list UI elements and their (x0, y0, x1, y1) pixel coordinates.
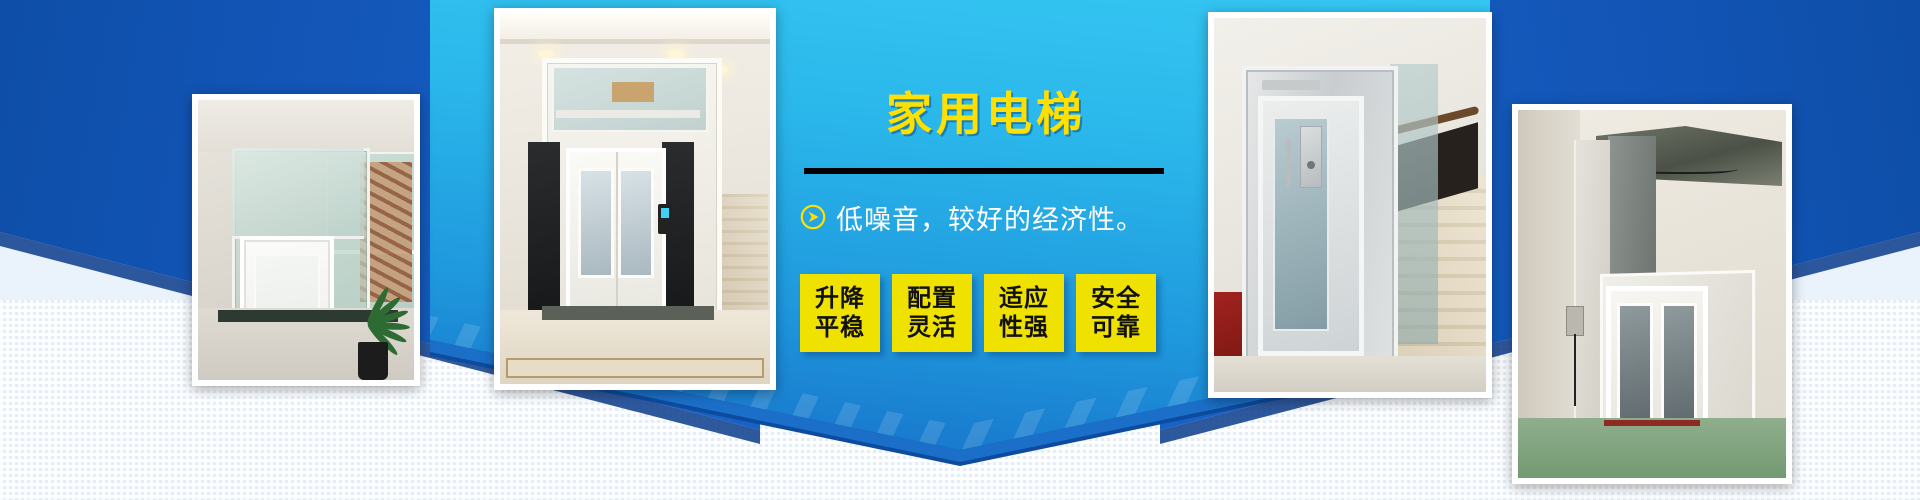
photo-glass-elevator-with-plant[interactable] (192, 94, 420, 386)
feature-badge-3[interactable]: 适应 性强 (984, 274, 1064, 352)
feature-badge-1-line1: 升降 (815, 284, 865, 313)
feature-badge-2[interactable]: 配置 灵活 (892, 274, 972, 352)
feature-badge-2-line2: 灵活 (907, 313, 957, 342)
feature-badge-4-line2: 可靠 (1091, 313, 1141, 342)
circle-arrow-right-icon (800, 204, 826, 230)
feature-badge-1[interactable]: 升降 平稳 (800, 274, 880, 352)
feature-badge-4-line1: 安全 (1091, 284, 1141, 313)
banner-tagline: 低噪音，较好的经济性。 (800, 196, 1180, 238)
feature-badge-2-line1: 配置 (907, 284, 957, 313)
home-elevator-banner: 家用电梯 低噪音，较好的经济性。 升降 平稳 配置 灵活 适应 性强 (0, 0, 1920, 500)
photo-4-image (1518, 110, 1786, 478)
banner-tagline-text: 低噪音，较好的经济性。 (836, 198, 1144, 237)
photo-installation-raw-shaft[interactable] (1512, 104, 1792, 484)
photo-stainless-cabin-beside-stairs[interactable] (1208, 12, 1492, 398)
photo-2-image (500, 14, 770, 384)
feature-badge-list: 升降 平稳 配置 灵活 适应 性强 安全 可靠 (800, 274, 1176, 352)
title-divider (804, 168, 1164, 174)
feature-badge-4[interactable]: 安全 可靠 (1076, 274, 1156, 352)
feature-badge-3-line1: 适应 (999, 284, 1049, 313)
feature-badge-1-line2: 平稳 (815, 313, 865, 342)
feature-badge-3-line2: 性强 (999, 313, 1049, 342)
photo-hallway-elevator-with-stairs[interactable] (494, 8, 776, 390)
banner-title: 家用电梯 (796, 78, 1176, 144)
photo-3-image (1214, 18, 1486, 392)
banner-text-column: 家用电梯 低噪音，较好的经济性。 升降 平稳 配置 灵活 适应 性强 (796, 0, 1176, 500)
photo-1-image (198, 100, 414, 380)
